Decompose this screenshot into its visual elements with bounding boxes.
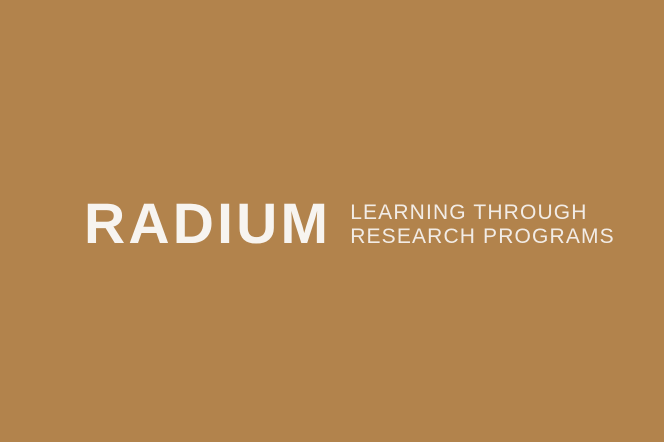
tagline-line-2: RESEARCH PROGRAMS <box>350 225 615 249</box>
logo-canvas: RADIUM LEARNING THROUGH RESEARCH PROGRAM… <box>0 0 664 442</box>
brand-lockup: RADIUM LEARNING THROUGH RESEARCH PROGRAM… <box>84 198 615 250</box>
brand-tagline: LEARNING THROUGH RESEARCH PROGRAMS <box>350 201 615 249</box>
brand-wordmark: RADIUM <box>84 198 331 250</box>
tagline-line-1: LEARNING THROUGH <box>350 201 615 225</box>
